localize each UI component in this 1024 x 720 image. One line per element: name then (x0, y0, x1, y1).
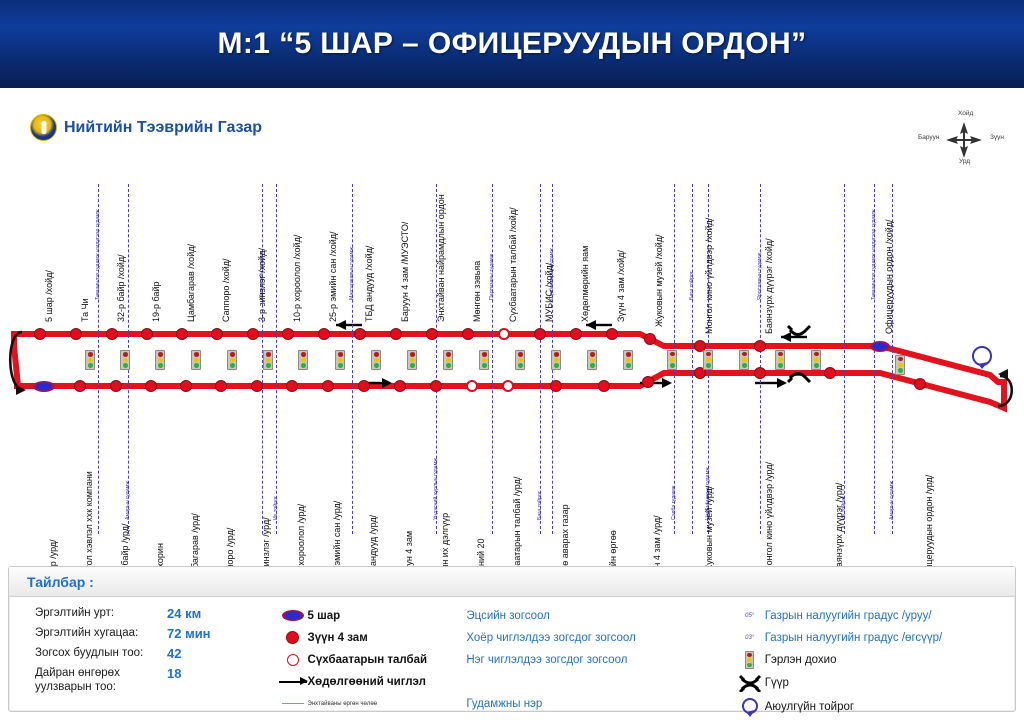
stop-marker[interactable] (318, 328, 330, 340)
stop-marker[interactable] (176, 328, 188, 340)
stop-marker[interactable] (145, 380, 157, 392)
page-title: M:1 “5 ШАР – ОФИЦЕРУУДЫН ОРДОН” (217, 27, 806, 61)
legend-item: Гэрлэн дохио (735, 650, 1015, 669)
legend-item: Нэг чиглэлдээ зогсдог зогсоол (466, 650, 734, 669)
stop-marker[interactable] (180, 380, 192, 392)
stop-dot-icon (278, 631, 308, 644)
traffic-light-icon (227, 350, 237, 370)
stop-marker[interactable] (282, 328, 294, 340)
traffic-light-icon (479, 350, 489, 370)
stop-label-top: Баянзүрх дүүрэг /хойд/ (764, 238, 774, 334)
traffic-light-icon (735, 651, 765, 669)
stat-row: Зогсох буудлын тоо: 42 (35, 646, 278, 661)
legend-item: Зүүн 4 зам (278, 628, 467, 647)
street-name-label: Төвшинлэх гудамж нэгдүгээр гудамж (871, 209, 877, 300)
street-line (492, 184, 493, 534)
stat-row: Эргэлтийн хугацаа: 72 мин (35, 626, 278, 641)
traffic-light-icon (775, 350, 785, 370)
compass-rose: Хойд Урд Баруун Зүүн (912, 110, 1016, 168)
legend-panel: Тайлбар : Эргэлтийн урт: 24 км Эргэлтийн… (8, 566, 1016, 712)
stop-type-label: Нэг чиглэлдээ зогсдог зогсоол (466, 654, 627, 666)
traffic-light-icon (120, 350, 130, 370)
legend-title: Тайлбар : (27, 574, 94, 590)
legend-item-label: Хөдөлгөөний чиглэл (308, 676, 426, 688)
stop-marker[interactable] (570, 328, 582, 340)
traffic-light-icon (703, 350, 713, 370)
stop-label-top: Монгол кино үйлдвэр /хойд/ (704, 218, 714, 334)
stop-label-top: 5 шар /хойд/ (44, 270, 54, 322)
street-name-label: Их тойрог (273, 496, 279, 520)
stop-label-top: Та Чи (80, 298, 90, 322)
stop-marker[interactable] (322, 380, 334, 392)
stop-label-top: Зүүн 4 зам /хойд/ (616, 250, 626, 322)
stop-marker[interactable] (426, 328, 438, 340)
legend-item: Хоёр чиглэлдээ зогсдог зогсоол (466, 628, 734, 647)
legend-item: Энхтайваны өргөн чөлөө (278, 694, 467, 713)
legend-item: 03° Газрын налуугийн градус /өгсүүр/ (735, 628, 1015, 647)
stop-label-top: Жуковын музей /хойд/ (654, 234, 664, 327)
street-line (692, 184, 693, 534)
stop-label-top: 19-р байр (151, 282, 161, 323)
traffic-light-icon (623, 350, 633, 370)
stop-marker[interactable] (606, 328, 618, 340)
legend-symbols-column: 5 шар Зүүн 4 зам Сүхбаатарын талбай Хөдө… (278, 606, 467, 711)
traffic-light-icon (407, 350, 417, 370)
traffic-light-icon (263, 350, 273, 370)
legend-road-symbols-column: 05° Газрын налуугийн градус /уруу/ 03° Г… (735, 606, 1015, 711)
direction-arrow-icon (278, 681, 308, 683)
stop-label-bottom: Жуковын музей /урд/ (704, 486, 714, 573)
compass-west-label: Баруун (918, 134, 940, 141)
open-circle-stop-icon (278, 654, 308, 666)
traffic-light-icon (85, 350, 95, 370)
stop-marker[interactable] (358, 380, 370, 392)
legend-item-label: Газрын налуугийн градус /өгсүүр/ (765, 632, 943, 644)
stop-label-top: Сүхбаатарын талбай /хойд/ (508, 207, 518, 322)
stop-label-top: МУБИС /хойд/ (544, 263, 554, 322)
legend-item-label: Аюулгүйн тойрог (765, 701, 854, 713)
legend-item: Гудамжны нэр (466, 694, 734, 713)
stop-marker[interactable] (211, 328, 223, 340)
stop-label-top: 32-р байр /хойд/ (116, 254, 126, 322)
stop-label-top: Офицеруудын ордон /хойд/ (884, 219, 894, 334)
stop-marker[interactable] (550, 380, 562, 392)
stop-marker[interactable] (824, 367, 836, 379)
stop-marker[interactable] (462, 328, 474, 340)
stat-label: Эргэлтийн хугацаа: (35, 626, 167, 640)
street-line (540, 184, 541, 534)
street-name-label: Амарын гудамж (889, 481, 895, 520)
terminus-dot-icon (278, 610, 308, 621)
street-name-label: Ярославын гудамж (757, 253, 763, 300)
stop-marker[interactable] (598, 380, 610, 392)
street-name-label: Амарын гудамж (125, 481, 131, 520)
bridge-icon (735, 674, 765, 692)
stat-row: Эргэлтийн урт: 24 км (35, 606, 278, 621)
stop-label-bottom: Монгол кино үйлдвэр /урд/ (764, 462, 774, 573)
stat-value: 42 (167, 646, 181, 661)
slope-down-icon: 05° (735, 613, 765, 619)
stat-row: Дайран өнгөрөх уулзварын тоо: 18 (35, 666, 278, 695)
title-banner: M:1 “5 ШАР – ОФИЦЕРУУДЫН ОРДОН” (0, 0, 1024, 88)
street-line (352, 184, 353, 534)
stop-label-top: Мөнгөн зэвьяа (472, 261, 482, 322)
open-circle-stop-marker[interactable] (502, 380, 514, 392)
legend-item-label: Сүхбаатарын талбай (308, 654, 428, 666)
roundabout-icon (973, 347, 991, 369)
transport-authority-logo-icon (30, 114, 57, 141)
legend-item: 5 шар (278, 606, 467, 625)
stop-label-top: Цамбагарав /хойд/ (186, 244, 196, 322)
stop-label-top: Баруун 4 зам /МУЭСТО/ (400, 222, 410, 322)
stop-marker[interactable] (70, 328, 82, 340)
stop-label-top: ТБД андууд /хойд/ (364, 246, 374, 322)
slope-down-glyph: 05° (745, 613, 754, 619)
slope-up-icon: 03° (735, 635, 765, 641)
stop-marker[interactable] (754, 340, 766, 352)
legend-item: Эцсийн зогсоол (466, 606, 734, 625)
stop-marker[interactable] (354, 328, 366, 340)
stop-marker[interactable] (642, 376, 654, 388)
stop-label-top: 10-р хороолол /хойд/ (292, 235, 302, 322)
terminus-stop-marker[interactable] (870, 341, 890, 352)
open-circle-stop-marker[interactable] (498, 328, 510, 340)
stop-marker[interactable] (914, 378, 926, 390)
street-name-label: Бага тойрог (537, 491, 543, 520)
stop-label-top: Хөдөлмөрийн яам (580, 246, 590, 322)
traffic-light-icon (443, 350, 453, 370)
stop-type-label: Эцсийн зогсоол (466, 610, 549, 622)
traffic-light-icon (895, 355, 905, 375)
stat-label: Эргэлтийн урт: (35, 606, 167, 620)
street-name-label: Ундэсний хурлын гудамж (433, 458, 439, 520)
traffic-light-icon (155, 350, 165, 370)
traffic-light-icon (515, 350, 525, 370)
legend-item: 05° Газрын налуугийн градус /уруу/ (735, 606, 1015, 625)
street-name-label: Сэлбэ гудамж (671, 486, 677, 520)
organization-header: Нийтийн Тээврийн Газар (30, 114, 262, 141)
traffic-light-icon (551, 350, 561, 370)
stop-marker[interactable] (430, 380, 442, 392)
street-line (276, 184, 277, 534)
stop-marker[interactable] (215, 380, 227, 392)
street-line (844, 184, 845, 534)
stat-label: Зогсох буудлын тоо: (35, 646, 167, 660)
compass-east-label: Зүүн (990, 134, 1004, 141)
traffic-light-icon (667, 350, 677, 370)
open-circle-stop-marker[interactable] (466, 380, 478, 392)
traffic-light-icon (587, 350, 597, 370)
legend-spacer (466, 672, 734, 691)
terminus-stop-marker[interactable] (34, 328, 46, 340)
legend-item-label: Гэрлэн дохио (765, 654, 837, 666)
traffic-light-icon (811, 350, 821, 370)
legend-item-label: Зүүн 4 зам (308, 632, 368, 644)
legend-item: Хөдөлгөөний чиглэл (278, 672, 467, 691)
organization-name: Нийтийн Тээврийн Газар (64, 119, 262, 137)
roundabout-icon (735, 697, 765, 717)
stop-marker[interactable] (247, 328, 259, 340)
compass-north-label: Хойд (958, 110, 973, 117)
street-name-label: Магсаржавын гудамж (349, 247, 355, 300)
stop-label-bottom: Баянзүрх дүүрэг /урд/ (834, 483, 844, 573)
legend-item-label: Гүүр (765, 677, 789, 689)
traffic-light-icon (371, 350, 381, 370)
legend-item-label: 5 шар (308, 610, 341, 622)
stop-marker[interactable] (754, 367, 766, 379)
green-line-icon (278, 703, 308, 705)
legend-item-label: Энхтайваны өргөн чөлөө (308, 701, 378, 707)
terminus-stop-marker[interactable] (33, 381, 55, 392)
compass-arrows-icon (944, 120, 984, 160)
route-map-canvas: Төвшинлэх гудамж нэгдүгээр гудамжАмарын … (0, 170, 1024, 560)
stop-marker[interactable] (390, 328, 402, 340)
stop-marker[interactable] (141, 328, 153, 340)
stop-marker[interactable] (286, 380, 298, 392)
stat-value: 18 (167, 666, 181, 681)
stop-marker[interactable] (644, 333, 656, 345)
route-map-page: M:1 “5 ШАР – ОФИЦЕРУУДЫН ОРДОН” Нийтийн … (0, 0, 1024, 720)
stop-marker[interactable] (251, 380, 263, 392)
street-name-label: Бага тойрог (689, 271, 695, 300)
stop-marker[interactable] (534, 328, 546, 340)
stat-value: 24 км (167, 606, 201, 621)
stop-label-top: Энхтайван найрамдлын ордон (436, 194, 446, 322)
traffic-light-icon (335, 350, 345, 370)
legend-item-label: Газрын налуугийн градус /уруу/ (765, 610, 932, 622)
legend-header: Тайлбар : (9, 567, 1015, 597)
legend-stats-column: Эргэлтийн урт: 24 км Эргэлтийн хугацаа: … (9, 606, 278, 711)
slope-up-glyph: 03° (745, 635, 754, 641)
stop-marker[interactable] (106, 328, 118, 340)
stop-type-label: Хоёр чиглэлдээ зогсдог зогсоол (466, 632, 635, 644)
stop-marker[interactable] (394, 380, 406, 392)
legend-body: Эргэлтийн урт: 24 км Эргэлтийн хугацаа: … (9, 597, 1015, 711)
traffic-light-icon (191, 350, 201, 370)
stop-type-label: Гудамжны нэр (466, 698, 542, 710)
traffic-light-icon (739, 350, 749, 370)
legend-item: Сүхбаатарын талбай (278, 650, 467, 669)
street-name-label: Төвшинлэх гудамж нэгдүгээр гудамж (95, 209, 101, 300)
stat-label: Дайран өнгөрөх уулзварын тоо: (35, 666, 167, 695)
stop-label-top: Саппоро /хойд/ (221, 258, 231, 322)
stop-label-top: 25-р эмийн сан /хойд/ (328, 232, 338, 322)
stop-marker[interactable] (74, 380, 86, 392)
stat-value: 72 мин (167, 626, 211, 641)
legend-item: Аюулгүйн тойрог (735, 697, 1015, 716)
traffic-light-icon (298, 350, 308, 370)
stop-marker[interactable] (110, 380, 122, 392)
legend-stop-types-column: Эцсийн зогсоол Хоёр чиглэлдээ зогсдог зо… (466, 606, 734, 711)
legend-item: Гүүр (735, 672, 1015, 694)
stop-label-top: 3-р зинзлэг /хойд/ (257, 248, 267, 322)
street-name-label: Партизаны гудамж (489, 254, 495, 300)
street-line (760, 184, 761, 534)
